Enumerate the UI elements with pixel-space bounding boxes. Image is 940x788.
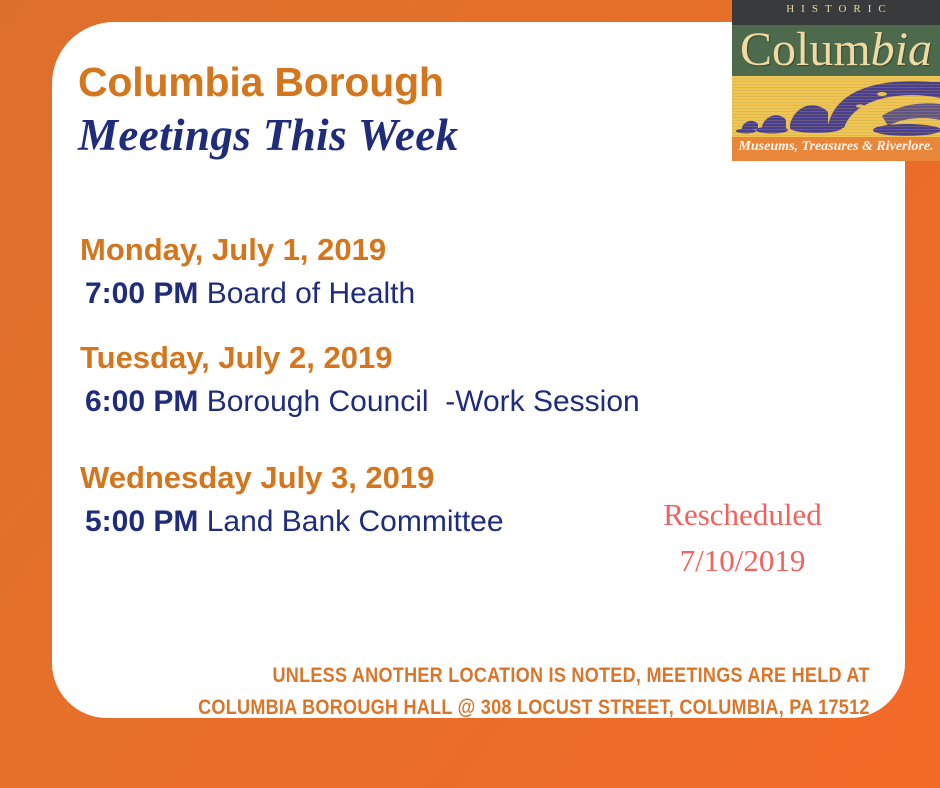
meeting-time: 7:00 PM [85, 277, 198, 310]
spacer [80, 424, 880, 456]
footer-line-1: Unless another location is noted, meetin… [175, 660, 870, 692]
meeting-day-label: Monday, July 1, 2019 [80, 228, 880, 272]
rescheduled-date: 7/10/2019 [620, 538, 865, 584]
title-secondary: Meetings This Week [78, 108, 698, 162]
page-title: Columbia Borough Meetings This Week [78, 56, 698, 162]
meeting-entry: 6:00 PM Borough Council -Work Session [80, 380, 880, 424]
meeting-name: Borough Council -Work Session [198, 385, 639, 418]
meeting-item-monday: Monday, July 1, 2019 7:00 PM Board of He… [80, 228, 880, 316]
meeting-entry: 7:00 PM Board of Health [80, 272, 880, 316]
meeting-time: 5:00 PM [85, 505, 198, 538]
meeting-time: 6:00 PM [85, 385, 198, 418]
historic-columbia-logo: HISTORIC Columbia [732, 0, 940, 161]
logo-wordmark-italic: bia [871, 23, 932, 76]
poster-canvas: Columbia Borough Meetings This Week HIST… [0, 0, 940, 788]
logo-tagline: Museums, Treasures & Riverlore. [732, 139, 940, 155]
meeting-name: Board of Health [198, 277, 415, 310]
logo-wordmark-upright: Colum [740, 23, 871, 76]
venue-footer: Unless another location is noted, meetin… [175, 660, 880, 724]
logo-bridge-illustration [732, 76, 940, 137]
logo-eyebrow-text: HISTORIC [732, 3, 940, 15]
meeting-item-tuesday: Tuesday, July 2, 2019 6:00 PM Borough Co… [80, 336, 880, 424]
rescheduled-label: Rescheduled [620, 492, 865, 538]
spacer [80, 316, 880, 336]
meeting-name: Land Bank Committee [198, 505, 503, 538]
logo-wordmark: Columbia [732, 22, 940, 78]
rescheduled-note: Rescheduled 7/10/2019 [620, 492, 865, 584]
footer-line-2: Columbia Borough Hall @ 308 Locust Stree… [175, 692, 870, 724]
meeting-day-label: Tuesday, July 2, 2019 [80, 336, 880, 380]
bridge-water-stripes [732, 76, 940, 137]
title-primary: Columbia Borough [78, 56, 698, 108]
